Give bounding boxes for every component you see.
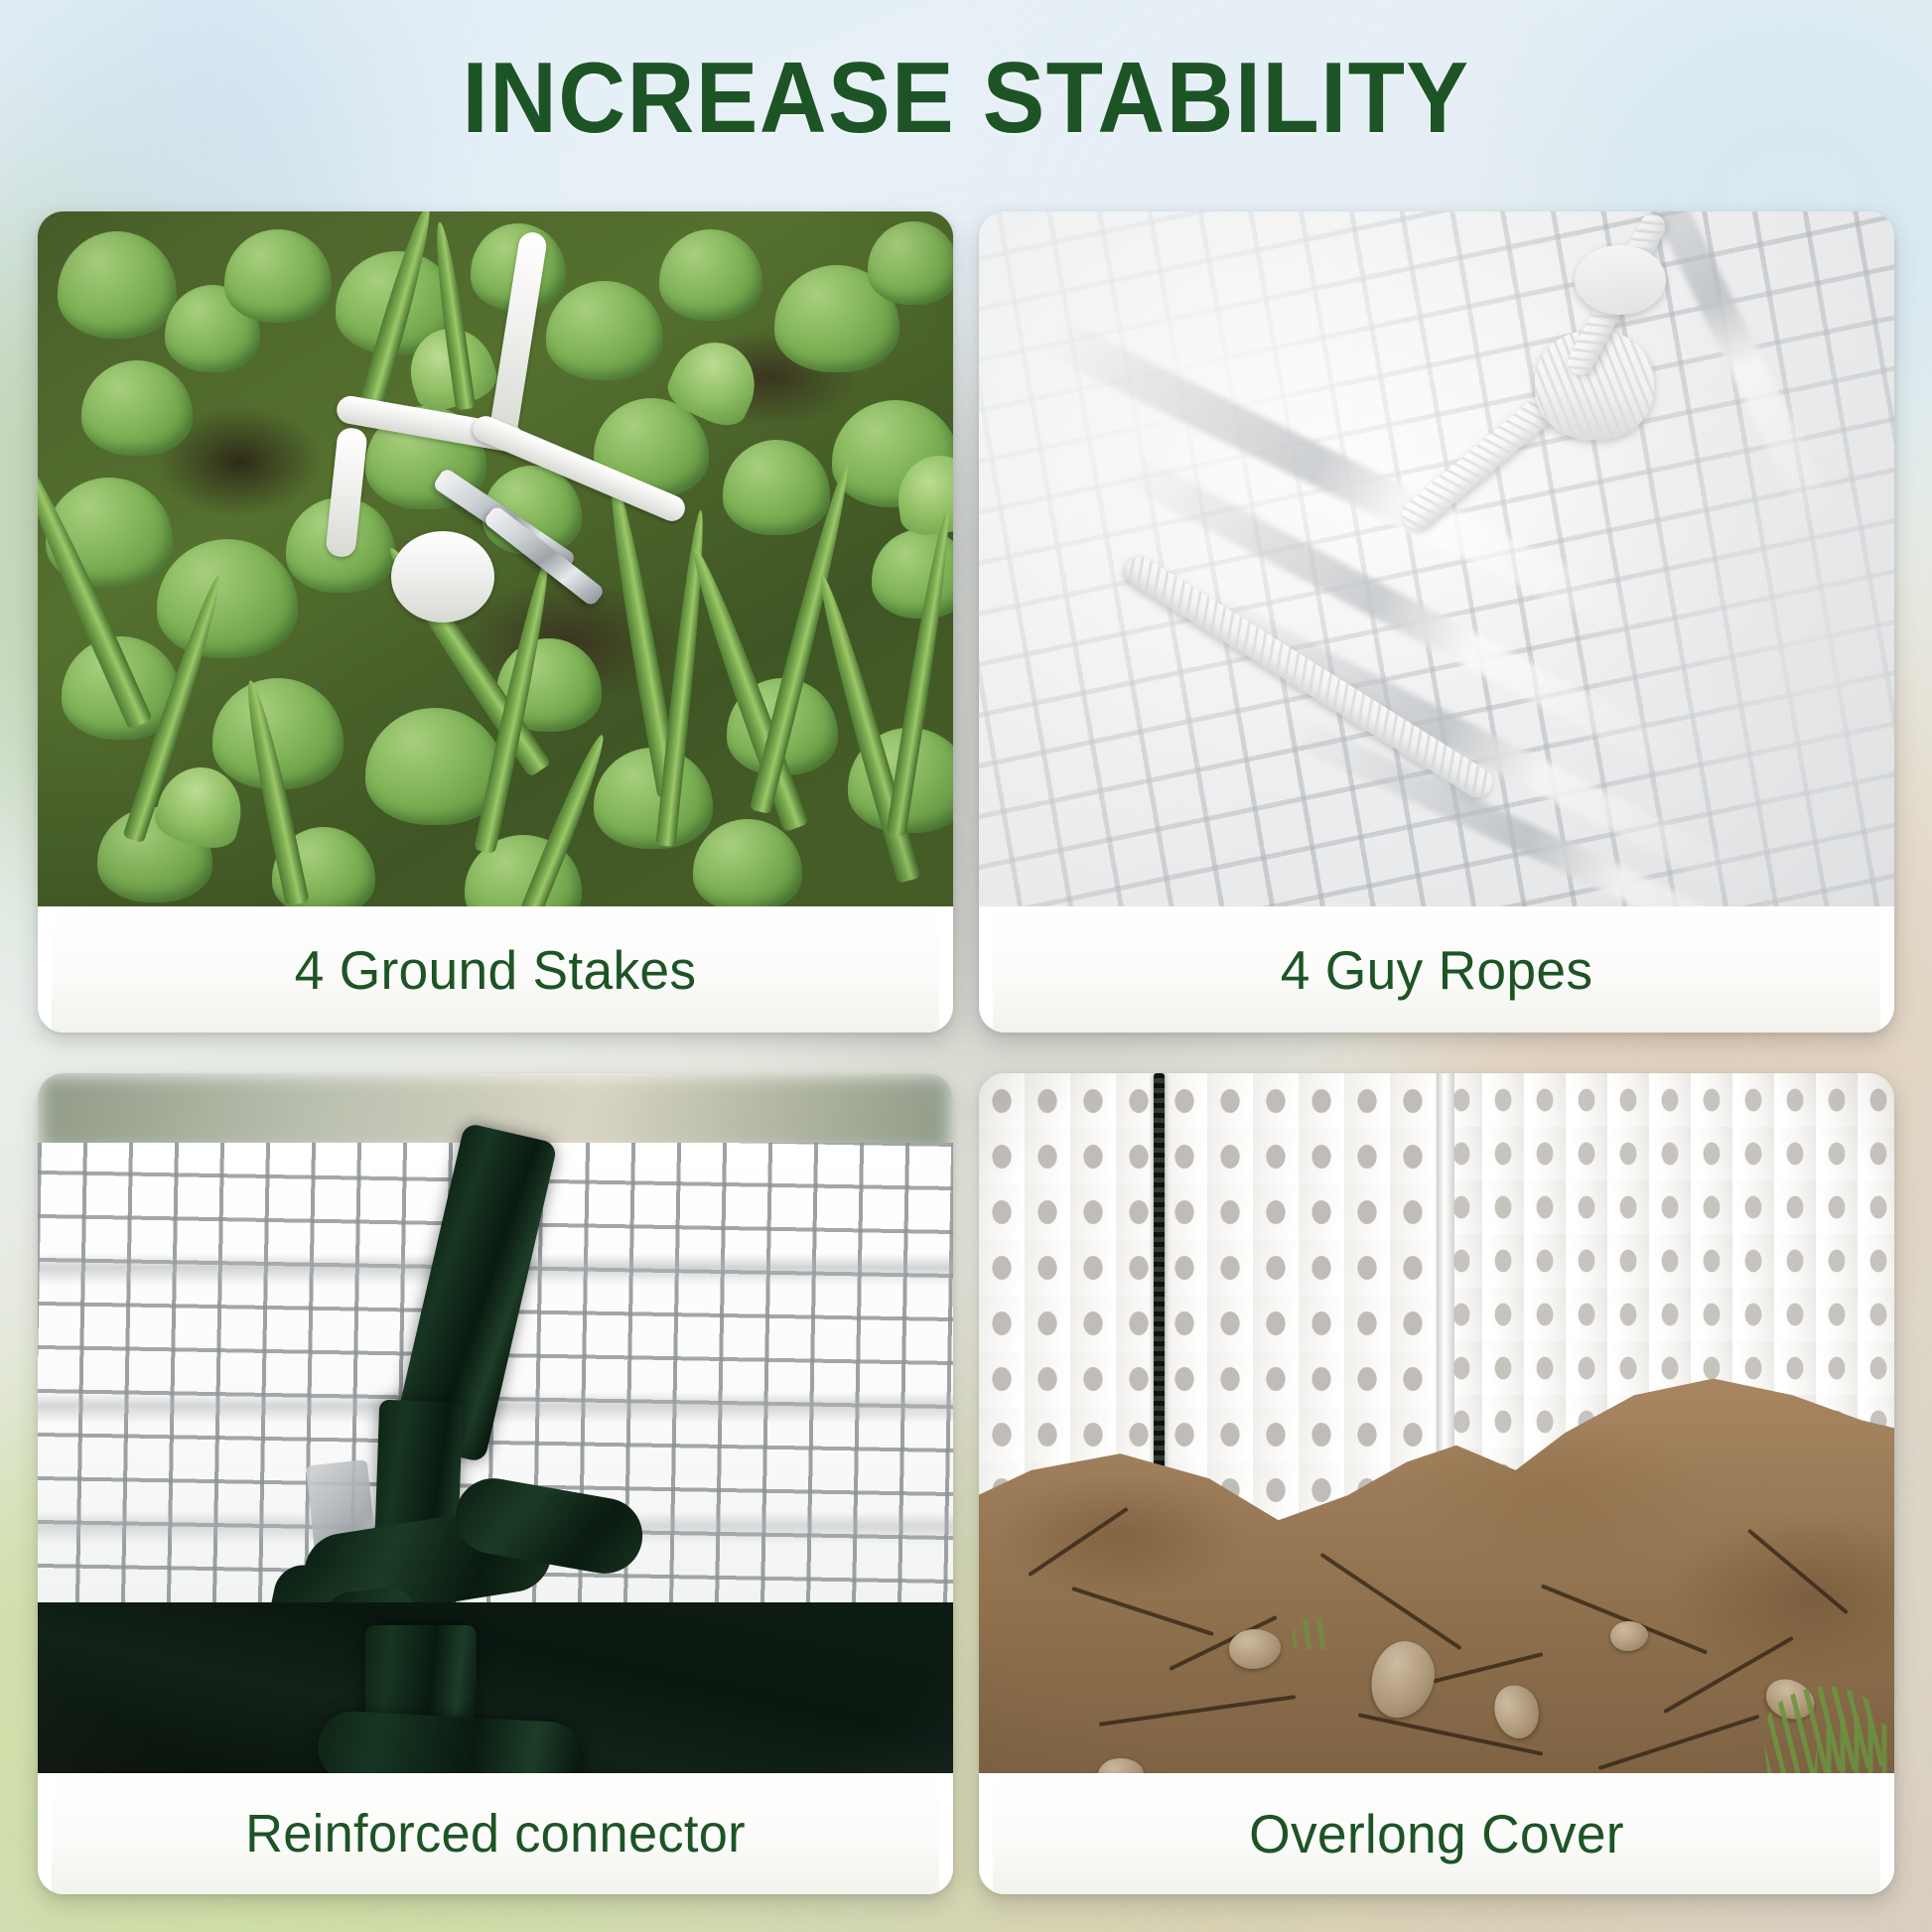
caption-overlong-cover: Overlong Cover bbox=[993, 1773, 1880, 1894]
caption-reinforced-connector: Reinforced connector bbox=[52, 1773, 939, 1894]
feature-card-ground-stakes[interactable]: 4 Ground Stakes bbox=[38, 211, 953, 1033]
photo-guy-ropes bbox=[979, 211, 1894, 906]
caption-ground-stakes: 4 Ground Stakes bbox=[52, 906, 939, 1033]
caption-guy-ropes: 4 Guy Ropes bbox=[993, 906, 1880, 1033]
page-title: INCREASE STABILITY bbox=[68, 48, 1864, 150]
photo-ground-stakes bbox=[38, 211, 953, 906]
photo-reinforced-connector bbox=[38, 1073, 953, 1773]
feature-card-reinforced-connector[interactable]: Reinforced connector bbox=[38, 1073, 953, 1894]
feature-card-grid: 4 Ground Stakes 4 Guy Ropes bbox=[38, 211, 1894, 1894]
grass-tuft bbox=[1293, 1617, 1332, 1649]
feature-card-guy-ropes[interactable]: 4 Guy Ropes bbox=[979, 211, 1894, 1033]
feature-card-overlong-cover[interactable]: Overlong Cover bbox=[979, 1073, 1894, 1894]
photo-overlong-cover bbox=[979, 1073, 1894, 1773]
rope-loop bbox=[1575, 245, 1666, 315]
rope-knot bbox=[391, 531, 494, 622]
